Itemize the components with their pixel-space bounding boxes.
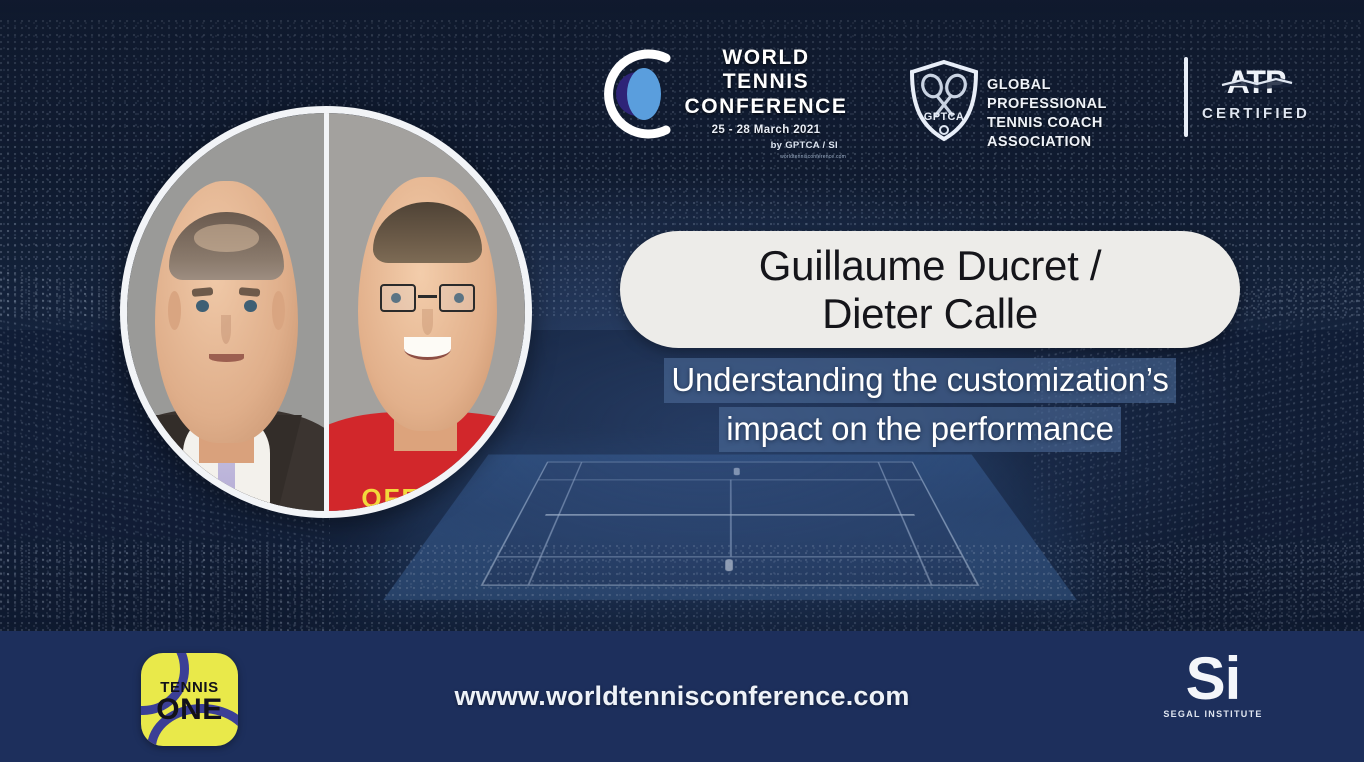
wtc-title-line1: WORLD TENNIS [682, 46, 850, 94]
segal-institute-si-logo-icon: Si SEGAL INSTITUTE [1161, 650, 1265, 748]
atp-certified-logo: ATP CERTIFIED [1202, 62, 1310, 132]
left-speaker-ear-left [168, 291, 181, 330]
wtc-c-monogram-icon [604, 44, 686, 144]
right-speaker-smile [404, 337, 451, 360]
gptca-name: GLOBAL PROFESSIONAL TENNIS COACH ASSOCIA… [987, 76, 1163, 153]
left-speaker-hair [169, 212, 284, 280]
wtc-dates: 25 - 28 March 2021 [682, 124, 850, 136]
session-subtitle-line1: Understanding the customization’s [664, 358, 1175, 403]
speaker-photo-right: OFF [326, 113, 525, 511]
left-speaker-face [155, 181, 298, 444]
right-speaker-glasses-bridge [418, 295, 438, 297]
left-speaker-eye-left [196, 300, 209, 312]
session-title-line2: Dieter Calle [822, 290, 1038, 337]
tennis-one-line2: ONE [141, 693, 238, 727]
left-speaker-ear-right [272, 291, 285, 330]
session-title: Guillaume Ducret /Dieter Calle [759, 242, 1101, 336]
presentation-slide: WORLD TENNIS CONFERENCE 25 - 28 March 20… [0, 0, 1364, 762]
left-speaker-eye-right [244, 300, 257, 312]
wtc-by-line: by GPTCA / SI [682, 140, 850, 151]
wtc-logo-text: WORLD TENNIS CONFERENCE 25 - 28 March 20… [682, 46, 850, 160]
session-subtitle: Understanding the customization’s impact… [560, 358, 1280, 452]
right-speaker-shirt-text: OFF [361, 485, 419, 511]
left-speaker-brow-left [192, 287, 214, 297]
right-speaker-glasses-left [380, 284, 416, 312]
gptca-shield-crossed-rackets-icon: GPTCA [905, 58, 983, 144]
tennis-one-logo-icon: TENNIS ONE [141, 653, 238, 746]
gptca-line1: GLOBAL PROFESSIONAL [987, 76, 1163, 114]
session-subtitle-line2: impact on the performance [719, 407, 1121, 452]
right-speaker-hair [373, 202, 482, 263]
world-tennis-conference-logo: WORLD TENNIS CONFERENCE 25 - 28 March 20… [600, 42, 850, 154]
portrait-split-divider [324, 113, 329, 511]
segal-name: SEGAL INSTITUTE [1161, 709, 1265, 719]
atp-certified-label: CERTIFIED [1202, 105, 1310, 122]
right-speaker-nose [422, 309, 433, 334]
left-speaker-nose [221, 315, 231, 344]
gptca-line2: TENNIS COACH ASSOCIATION [987, 114, 1163, 152]
wtc-title-line2: CONFERENCE [682, 95, 850, 119]
left-speaker-brow-right [239, 287, 261, 297]
left-speaker-mouth [209, 354, 243, 362]
speaker-photo-left [127, 113, 326, 511]
right-speaker-glasses-right [439, 284, 475, 312]
atp-player-silhouette-icon: ATP [1202, 62, 1310, 102]
session-title-line1: Guillaume Ducret / [759, 242, 1101, 289]
wtc-logo-url: worldtennisconference.com [682, 154, 850, 160]
right-speaker-face [358, 177, 497, 432]
segal-monogram: Si [1161, 650, 1265, 707]
speaker-portraits: OFF [120, 106, 532, 518]
gptca-logo: GPTCA GLOBAL PROFESSIONAL TENNIS COACH A… [905, 56, 1163, 144]
header-divider [1184, 57, 1188, 137]
session-title-card: Guillaume Ducret /Dieter Calle [620, 231, 1240, 348]
svg-text:GPTCA: GPTCA [924, 111, 965, 123]
